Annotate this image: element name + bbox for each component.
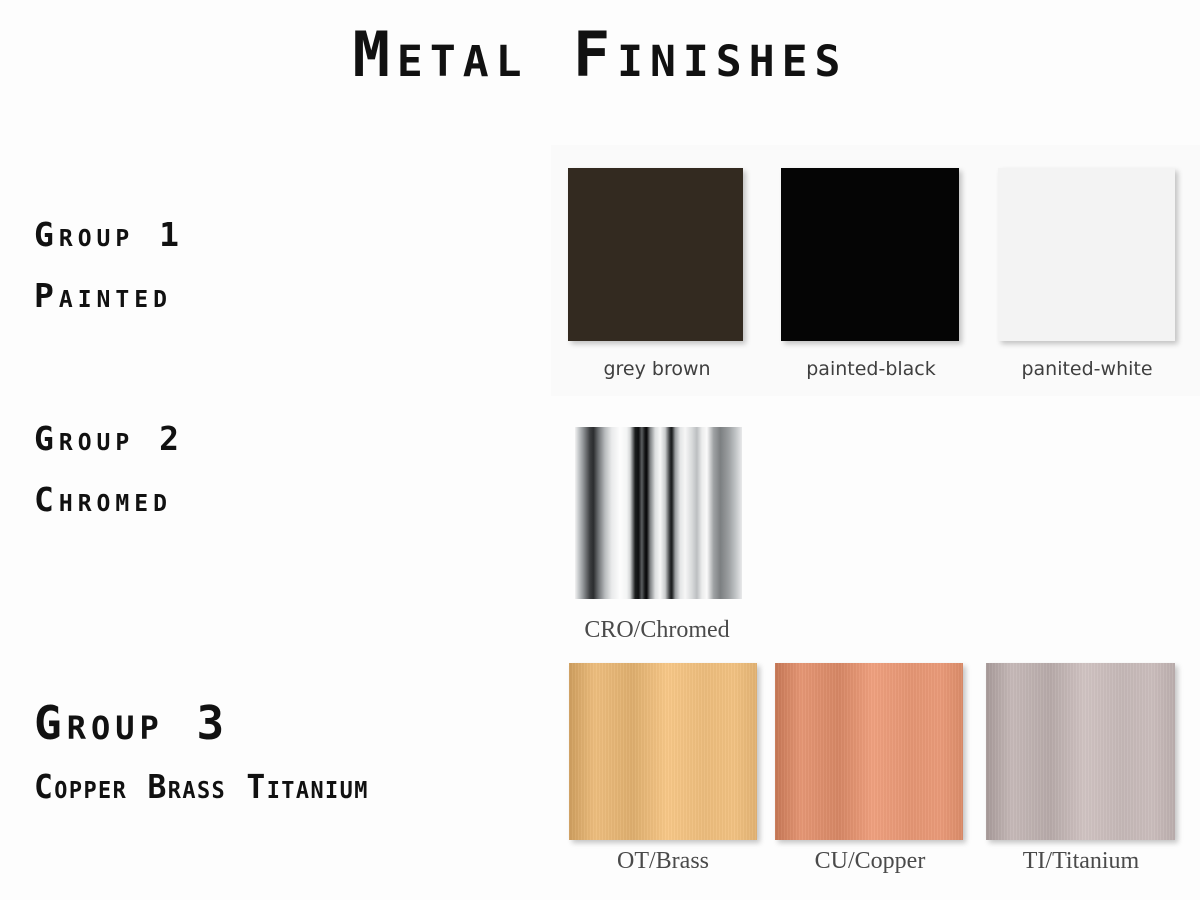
group-1-heading: Group 1	[34, 216, 184, 255]
caption-panited-white: panited-white	[978, 358, 1196, 380]
group-1-subheading: Painted	[34, 277, 184, 316]
brushed-grain-overlay	[569, 663, 757, 840]
caption-grey-brown: grey brown	[548, 358, 766, 380]
caption-titanium: TI/Titanium	[966, 848, 1196, 875]
group-2-heading: Group 2	[34, 420, 184, 459]
swatch-chromed[interactable]	[575, 427, 742, 599]
page-title: Metal Finishes	[0, 22, 1200, 87]
caption-copper: CU/Copper	[755, 848, 985, 875]
swatch-panited-white[interactable]	[998, 168, 1175, 341]
swatch-copper[interactable]	[775, 663, 963, 840]
swatch-titanium[interactable]	[986, 663, 1175, 840]
caption-brass: OT/Brass	[548, 848, 778, 875]
slide-canvas: Metal Finishes Group 1 Painted Group 2 C…	[0, 0, 1200, 900]
caption-chromed: CRO/Chromed	[548, 617, 766, 644]
group-3-heading: Group 3	[34, 696, 386, 750]
caption-painted-black: painted-black	[762, 358, 980, 380]
group-2-label: Group 2 Chromed	[34, 420, 184, 520]
brushed-grain-overlay	[986, 663, 1175, 840]
group-3-subheading: Copper Brass Titanium	[34, 768, 369, 807]
group-3-label: Group 3 Copper Brass Titanium	[34, 696, 386, 807]
brushed-grain-overlay	[775, 663, 963, 840]
swatch-painted-black[interactable]	[781, 168, 959, 341]
group-1-label: Group 1 Painted	[34, 216, 184, 316]
swatch-brass[interactable]	[569, 663, 757, 840]
swatch-grey-brown[interactable]	[568, 168, 743, 341]
group-2-subheading: Chromed	[34, 481, 184, 520]
